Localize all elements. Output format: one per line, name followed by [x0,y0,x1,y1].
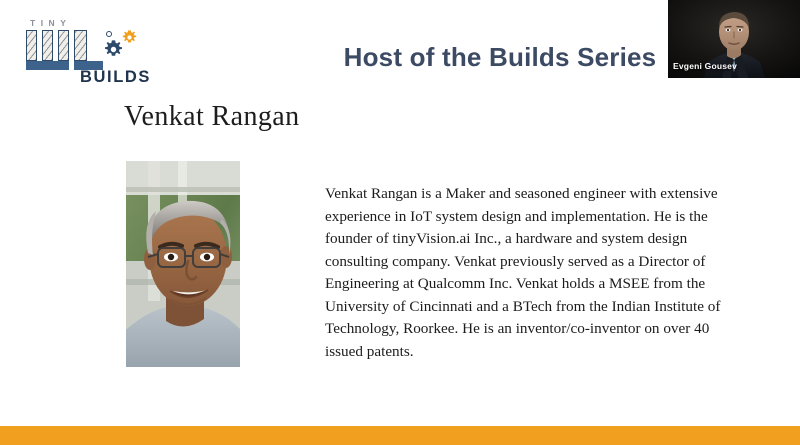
logo-pillar [42,30,53,61]
speaker-bio: Venkat Rangan is a Maker and seasoned en… [325,183,735,363]
gear-icon [122,30,137,45]
logo-circle-accent [106,31,112,37]
logo-builds-text: BUILDS [80,68,151,87]
speaker-portrait [126,161,240,367]
bottom-accent-bar [0,426,800,445]
logo-pillar [74,30,87,61]
logo-tiny-text: TINY [30,18,71,28]
participant-name-label: Evgeni Gousev [673,61,737,71]
tinyml-builds-logo: TINY BUILDS [22,18,162,84]
logo-letter-m [26,30,70,70]
logo-pillar [26,30,37,61]
logo-base [26,61,69,70]
speaker-name: Venkat Rangan [124,101,299,133]
page-title: Host of the Builds Series [330,42,670,73]
gear-icon [104,40,123,59]
logo-letter-l [74,30,104,70]
logo-pillar [58,30,69,61]
webcam-video-tile[interactable]: Evgeni Gousev [668,0,800,78]
